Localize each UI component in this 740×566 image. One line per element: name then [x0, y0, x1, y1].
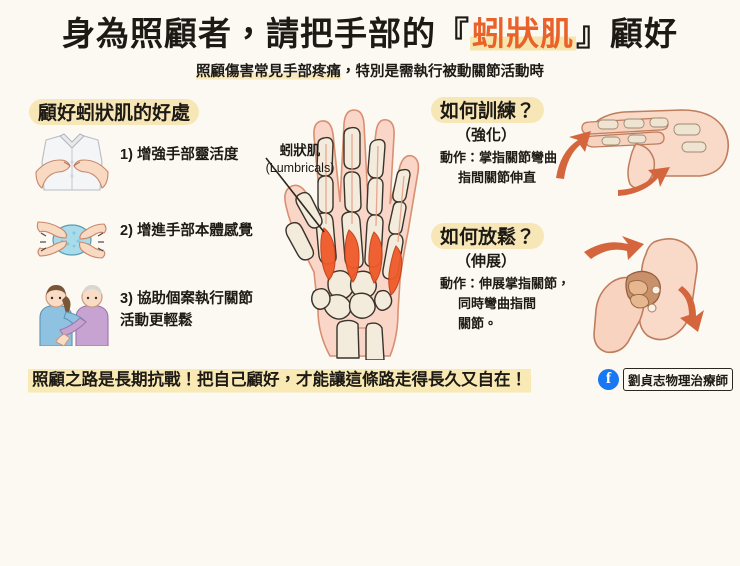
facebook-credit[interactable]: f 劉貞志物理治療師: [598, 368, 733, 390]
benefit-label-2: 增進手部本體感覺: [137, 223, 253, 239]
page-subtitle: 照顧傷害常見手部疼痛，特別是需執行被動關節活動時: [0, 62, 740, 82]
benefit-index-2: 2): [120, 223, 133, 239]
benefit-index-3: 3): [120, 291, 133, 307]
relax-heading-label: 如何放鬆？: [440, 227, 535, 248]
infographic-canvas: 身為照顧者，請把手部的『蚓狀肌』顧好 照顧傷害常見手部疼痛，特別是需執行被動關節…: [0, 0, 740, 404]
benefit-text-3: 3) 協助個案執行關節 活動更輕鬆: [120, 288, 272, 332]
subtitle-highlight: 照顧傷害常見手部疼痛: [196, 64, 341, 80]
facebook-page-name[interactable]: 劉貞志物理治療師: [623, 368, 733, 391]
hand-skeleton-svg: [252, 84, 448, 360]
benefit-index-1: 1): [120, 147, 133, 163]
lumbrical-label: 蚓狀肌 (Lumbricals): [252, 142, 348, 177]
caregiver-assist-icon: [30, 284, 114, 346]
squeeze-ball-icon: [30, 208, 114, 270]
page-title: 身為照顧者，請把手部的『蚓狀肌』顧好: [0, 12, 740, 56]
arrow-up-icon: [556, 131, 591, 179]
facebook-icon[interactable]: f: [598, 369, 619, 390]
benefit-label-3b: 活動更輕鬆: [120, 313, 193, 329]
footer-message: 照顧之路是長期抗戰！把自己顧好，才能讓這條路走得長久又自在！: [28, 366, 531, 394]
training-section: 如何訓練？ （強化） 動作：掌指關節彎曲 指間關節伸直 建議：每 次: [432, 96, 740, 211]
training-heading-label: 如何訓練？: [440, 101, 535, 122]
relax-subheading: （伸展）: [456, 252, 516, 272]
title-part-2: 』顧好: [576, 15, 678, 52]
subtitle-rest: ，特別是需執行被動關節活動時: [341, 64, 544, 80]
benefit-text-2: 2) 增進手部本體感覺: [120, 220, 272, 242]
footer: 照顧之路是長期抗戰！把自己顧好，才能讓這條路走得長久又自在！ f 劉貞志物理治療…: [0, 358, 740, 404]
lumbrical-label-cn: 蚓狀肌: [252, 142, 348, 160]
shirt-buttoning-icon: [30, 132, 114, 194]
title-highlight-term: 蚓狀肌: [470, 15, 576, 52]
training-heading: 如何訓練？: [440, 96, 535, 123]
header: 身為照顧者，請把手部的『蚓狀肌』顧好 照顧傷害常見手部疼痛，特別是需執行被動關節…: [0, 0, 740, 92]
benefit-text-1: 1) 增強手部靈活度: [120, 144, 272, 166]
list-item: 1) 增強手部靈活度: [22, 132, 272, 198]
relax-section: 如何放鬆？ （伸展） 動作：伸展掌指關節， 同時彎曲指間 關節。 建議： 維持: [432, 222, 740, 357]
benefits-heading-label: 顧好蚓狀肌的好處: [38, 103, 190, 124]
relax-hand-illustration: [536, 224, 736, 356]
lumbrical-label-en: (Lumbricals): [252, 160, 348, 177]
benefits-list: 1) 增強手部靈活度: [22, 132, 272, 360]
benefits-panel: 顧好蚓狀肌的好處: [22, 96, 272, 346]
arrow-down-left-icon: [584, 236, 644, 260]
benefit-label-3: 協助個案執行關節: [137, 291, 253, 307]
benefit-label-1: 增強手部靈活度: [137, 147, 239, 163]
list-item: 2) 增進手部本體感覺: [22, 208, 272, 274]
training-hand-illustration: [532, 92, 740, 210]
list-item: 3) 協助個案執行關節 活動更輕鬆: [22, 284, 272, 350]
relax-heading: 如何放鬆？: [440, 222, 535, 249]
title-part-1: 身為照顧者，請把手部的『: [62, 15, 470, 52]
benefits-heading: 顧好蚓狀肌的好處: [38, 98, 190, 125]
hand-anatomy-illustration: 蚓狀肌 (Lumbricals): [252, 84, 448, 360]
training-subheading: （強化）: [456, 126, 516, 146]
